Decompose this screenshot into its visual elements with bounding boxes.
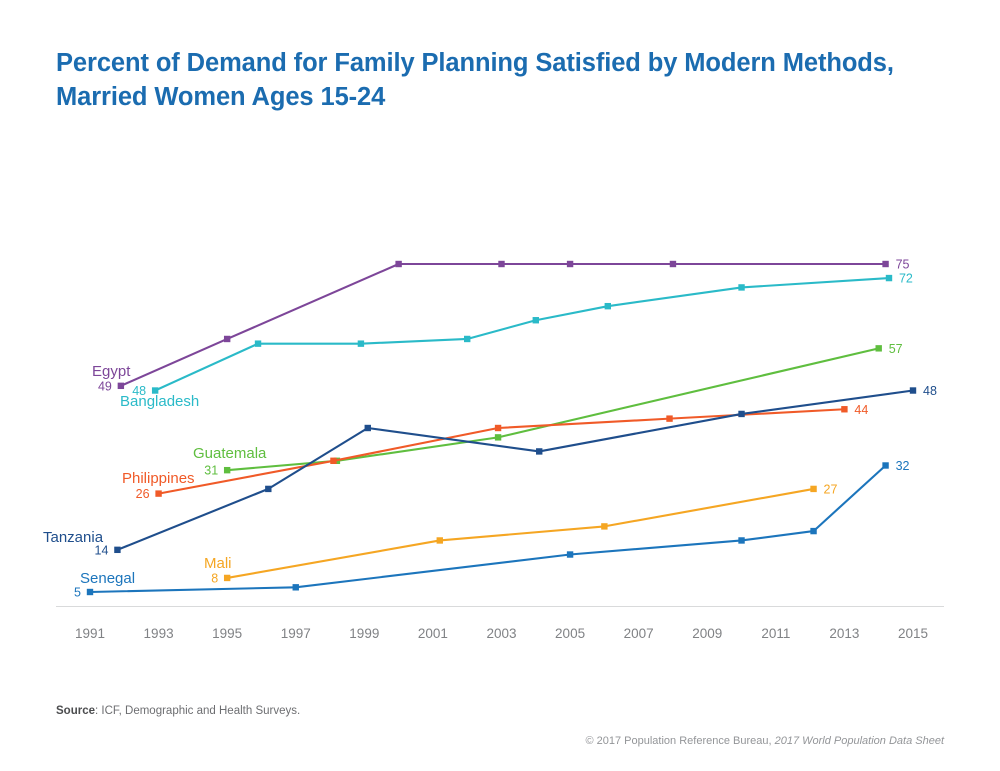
series-line	[155, 278, 889, 390]
data-point-marker	[738, 537, 744, 543]
data-point-marker	[87, 589, 93, 595]
series-name-label-bangladesh: Bangladesh	[120, 393, 199, 410]
data-point-marker	[265, 486, 271, 492]
data-point-marker	[810, 486, 816, 492]
copyright-prefix: © 2017 Population Reference Bureau,	[585, 735, 774, 747]
x-axis-tick-label: 2001	[418, 626, 448, 641]
series-end-value-label: 57	[889, 342, 903, 356]
data-point-marker	[670, 261, 676, 267]
data-point-marker	[841, 406, 847, 412]
series-start-value-label: 8	[211, 571, 218, 585]
series-start-value-label: 31	[204, 464, 218, 478]
data-point-marker	[498, 261, 504, 267]
x-axis-tick-label: 1995	[212, 626, 242, 641]
series-line	[227, 489, 813, 578]
series-end-value-label: 27	[824, 482, 838, 496]
x-axis-tick-label: 2005	[555, 626, 585, 641]
data-point-marker	[882, 261, 888, 267]
series-name-label-guatemala: Guatemala	[193, 445, 267, 462]
series-mali: 827	[211, 482, 837, 585]
series-name-label-senegal: Senegal	[80, 570, 135, 587]
data-point-marker	[567, 551, 573, 557]
data-point-marker	[114, 547, 120, 553]
data-point-marker	[155, 490, 161, 496]
data-point-marker	[536, 448, 542, 454]
data-point-marker	[365, 425, 371, 431]
series-line	[121, 264, 886, 386]
x-axis-tick-label: 2011	[761, 626, 790, 641]
series-guatemala: 3157	[204, 342, 902, 478]
data-point-marker	[255, 340, 261, 346]
data-point-marker	[605, 303, 611, 309]
series-end-value-label: 72	[899, 272, 913, 286]
x-axis-tick-label: 2015	[898, 626, 928, 641]
data-point-marker	[224, 467, 230, 473]
series-end-value-label: 75	[896, 258, 910, 272]
data-point-marker	[738, 284, 744, 290]
data-point-marker	[495, 434, 501, 440]
data-point-marker	[533, 317, 539, 323]
series-start-value-label: 26	[136, 487, 150, 501]
x-axis-tick-label: 1991	[75, 626, 105, 641]
data-point-marker	[395, 261, 401, 267]
series-bangladesh: 4872	[132, 272, 913, 398]
x-axis-tick-label: 2007	[624, 626, 654, 641]
x-axis-tick-label: 1997	[281, 626, 311, 641]
series-start-value-label: 5	[74, 586, 81, 600]
data-point-marker	[601, 523, 607, 529]
chart-plot-area: 1991199319951997199920012003200520072009…	[0, 0, 1000, 771]
data-point-marker	[224, 336, 230, 342]
source-note: Source: ICF, Demographic and Health Surv…	[56, 705, 300, 717]
series-end-value-label: 44	[854, 403, 868, 417]
data-point-marker	[886, 275, 892, 281]
copyright-publication: 2017 World Population Data Sheet	[775, 735, 944, 747]
x-axis-tick-label: 2009	[692, 626, 722, 641]
copyright-note: © 2017 Population Reference Bureau, 2017…	[585, 735, 944, 747]
data-point-marker	[567, 261, 573, 267]
chart-page: Percent of Demand for Family Planning Sa…	[0, 0, 1000, 771]
series-name-label-mali: Mali	[204, 555, 232, 572]
data-point-marker	[330, 458, 336, 464]
series-start-value-label: 49	[98, 379, 112, 393]
data-point-marker	[437, 537, 443, 543]
x-axis-tick-label: 2003	[486, 626, 516, 641]
series-name-label-tanzania: Tanzania	[43, 529, 104, 546]
data-point-marker	[910, 387, 916, 393]
data-point-marker	[810, 528, 816, 534]
line-chart: 1991199319951997199920012003200520072009…	[0, 0, 1000, 771]
data-point-marker	[876, 345, 882, 351]
data-point-marker	[495, 425, 501, 431]
data-point-marker	[738, 411, 744, 417]
data-point-marker	[118, 383, 124, 389]
series-end-value-label: 48	[923, 384, 937, 398]
series-senegal: 532	[74, 459, 909, 600]
series-name-label-philippines: Philippines	[122, 470, 195, 487]
series-name-label-egypt: Egypt	[92, 363, 131, 380]
x-axis-tick-label: 1999	[349, 626, 379, 641]
data-point-marker	[293, 584, 299, 590]
x-axis-tick-label: 2013	[829, 626, 859, 641]
source-text: : ICF, Demographic and Health Surveys.	[95, 705, 300, 717]
series-egypt: 4975	[98, 258, 910, 394]
data-point-marker	[358, 340, 364, 346]
source-label: Source	[56, 705, 95, 717]
data-point-marker	[882, 462, 888, 468]
x-axis-tick-label: 1993	[144, 626, 174, 641]
data-point-marker	[224, 575, 230, 581]
data-point-marker	[464, 336, 470, 342]
data-point-marker	[666, 415, 672, 421]
series-end-value-label: 32	[896, 459, 910, 473]
